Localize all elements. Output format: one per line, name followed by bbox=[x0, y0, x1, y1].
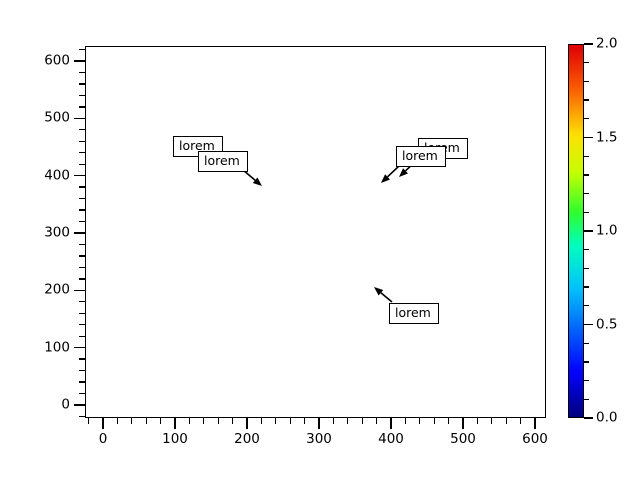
x-tick-label: 300 bbox=[306, 433, 332, 447]
y-tick-minor bbox=[79, 198, 85, 199]
x-tick-label: 100 bbox=[162, 433, 188, 447]
x-tick-minor bbox=[333, 418, 334, 424]
x-tick-label: 600 bbox=[522, 433, 548, 447]
colorbar-tick-major bbox=[584, 417, 593, 418]
y-tick-minor bbox=[79, 49, 85, 50]
y-tick-label: 200 bbox=[44, 284, 70, 298]
y-tick-minor bbox=[79, 129, 85, 130]
y-tick-minor bbox=[79, 164, 85, 165]
figure-canvas: 01002003004005006000100200300400500600 0… bbox=[0, 0, 640, 480]
axes-frame bbox=[85, 46, 546, 418]
y-tick-minor bbox=[79, 95, 85, 96]
x-tick-major bbox=[462, 418, 463, 429]
colorbar-gradient bbox=[568, 44, 584, 418]
x-tick-major bbox=[534, 418, 535, 429]
x-tick-minor bbox=[160, 418, 161, 424]
x-tick-minor bbox=[419, 418, 420, 424]
x-tick-major bbox=[102, 418, 103, 429]
y-tick-minor bbox=[79, 336, 85, 337]
x-tick-major bbox=[390, 418, 391, 429]
x-tick-minor bbox=[261, 418, 262, 424]
y-tick-minor bbox=[79, 313, 85, 314]
y-tick-minor bbox=[79, 72, 85, 73]
y-tick-major bbox=[74, 118, 85, 119]
x-tick-minor bbox=[146, 418, 147, 424]
colorbar-tick-label: 2.0 bbox=[596, 37, 617, 51]
x-tick-minor bbox=[117, 418, 118, 424]
y-tick-label: 0 bbox=[61, 398, 70, 412]
y-tick-label: 400 bbox=[44, 169, 70, 183]
y-tick-label: 500 bbox=[44, 112, 70, 126]
x-tick-label: 400 bbox=[378, 433, 404, 447]
y-tick-minor bbox=[79, 152, 85, 153]
x-tick-label: 200 bbox=[234, 433, 260, 447]
y-tick-minor bbox=[79, 141, 85, 142]
colorbar-tick-minor bbox=[584, 399, 589, 400]
x-tick-major bbox=[174, 418, 175, 429]
y-tick-minor bbox=[79, 106, 85, 107]
y-tick-minor bbox=[79, 324, 85, 325]
x-tick-minor bbox=[290, 418, 291, 424]
colorbar-tick-minor bbox=[584, 380, 589, 381]
x-tick-minor bbox=[88, 418, 89, 424]
colorbar-tick-minor bbox=[584, 286, 589, 287]
x-tick-minor bbox=[218, 418, 219, 424]
y-tick-minor bbox=[79, 301, 85, 302]
colorbar-tick-major bbox=[584, 324, 593, 325]
x-tick-label: 0 bbox=[99, 433, 108, 447]
y-tick-major bbox=[74, 60, 85, 61]
colorbar-tick-minor bbox=[584, 249, 589, 250]
colorbar-tick-label: 1.5 bbox=[596, 131, 617, 145]
colorbar-tick-major bbox=[584, 137, 593, 138]
x-tick-major bbox=[246, 418, 247, 429]
y-tick-major bbox=[74, 404, 85, 405]
annotation-label[interactable]: lorem bbox=[198, 151, 248, 172]
y-tick-minor bbox=[79, 221, 85, 222]
x-tick-minor bbox=[491, 418, 492, 424]
x-tick-minor bbox=[347, 418, 348, 424]
y-tick-minor bbox=[79, 393, 85, 394]
colorbar-tick-minor bbox=[584, 361, 589, 362]
x-tick-minor bbox=[275, 418, 276, 424]
colorbar-tick-minor bbox=[584, 62, 589, 63]
y-tick-minor bbox=[79, 278, 85, 279]
annotation-label[interactable]: lorem bbox=[396, 146, 446, 167]
x-tick-minor bbox=[506, 418, 507, 424]
colorbar-tick-minor bbox=[584, 174, 589, 175]
y-tick-minor bbox=[79, 186, 85, 187]
y-tick-label: 600 bbox=[44, 54, 70, 68]
annotation-label[interactable]: lorem bbox=[389, 303, 439, 324]
colorbar-tick-minor bbox=[584, 268, 589, 269]
y-tick-minor bbox=[79, 209, 85, 210]
colorbar bbox=[568, 44, 584, 418]
y-tick-minor bbox=[79, 244, 85, 245]
x-tick-minor bbox=[304, 418, 305, 424]
colorbar-tick-label: 0.5 bbox=[596, 318, 617, 332]
colorbar-tick-major bbox=[584, 230, 593, 231]
x-tick-minor bbox=[405, 418, 406, 424]
y-tick-major bbox=[74, 232, 85, 233]
x-tick-minor bbox=[131, 418, 132, 424]
colorbar-tick-label: 0.0 bbox=[596, 411, 617, 425]
x-tick-minor bbox=[203, 418, 204, 424]
x-tick-minor bbox=[520, 418, 521, 424]
colorbar-tick-minor bbox=[584, 81, 589, 82]
colorbar-tick-minor bbox=[584, 156, 589, 157]
y-tick-major bbox=[74, 290, 85, 291]
x-tick-minor bbox=[448, 418, 449, 424]
x-tick-minor bbox=[362, 418, 363, 424]
colorbar-tick-minor bbox=[584, 212, 589, 213]
y-tick-label: 300 bbox=[44, 226, 70, 240]
x-tick-major bbox=[318, 418, 319, 429]
colorbar-tick-minor bbox=[584, 118, 589, 119]
y-tick-label: 100 bbox=[44, 341, 70, 355]
y-tick-major bbox=[74, 175, 85, 176]
y-tick-minor bbox=[79, 255, 85, 256]
colorbar-tick-minor bbox=[584, 343, 589, 344]
y-tick-minor bbox=[79, 358, 85, 359]
x-tick-minor bbox=[434, 418, 435, 424]
colorbar-tick-minor bbox=[584, 193, 589, 194]
x-tick-label: 500 bbox=[450, 433, 476, 447]
y-tick-major bbox=[74, 347, 85, 348]
x-tick-minor bbox=[232, 418, 233, 424]
x-tick-minor bbox=[189, 418, 190, 424]
colorbar-tick-label: 1.0 bbox=[596, 224, 617, 238]
x-tick-minor bbox=[376, 418, 377, 424]
y-tick-minor bbox=[79, 416, 85, 417]
x-tick-minor bbox=[477, 418, 478, 424]
colorbar-tick-major bbox=[584, 43, 593, 44]
colorbar-tick-minor bbox=[584, 305, 589, 306]
y-tick-minor bbox=[79, 83, 85, 84]
colorbar-tick-minor bbox=[584, 99, 589, 100]
y-tick-minor bbox=[79, 381, 85, 382]
y-tick-minor bbox=[79, 370, 85, 371]
y-tick-minor bbox=[79, 267, 85, 268]
